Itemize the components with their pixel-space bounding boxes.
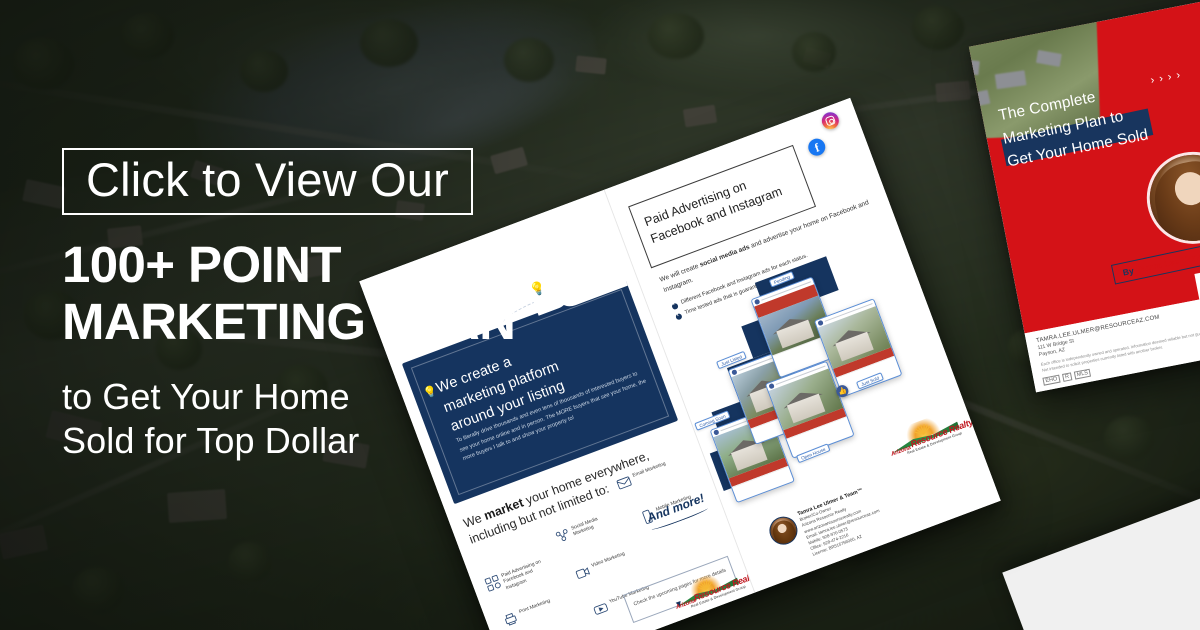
channel-label: Video Marketing: [590, 546, 636, 570]
channel-label: Print Marketing: [518, 592, 564, 616]
promo-banner: The Complete Marketing Plan to Get Your …: [0, 0, 1200, 630]
instagram-icon: [819, 110, 841, 132]
subheadline-line-1: to Get Your Home: [62, 375, 582, 419]
facebook-icon: f: [806, 136, 828, 158]
channel-label: Search Engine Marketing: [535, 627, 583, 630]
cta-label: Click to View Our: [86, 156, 449, 203]
video-icon: [573, 563, 592, 582]
headline-line-2: MARKETING PLAN: [62, 294, 582, 349]
social-media-icon: [553, 526, 572, 545]
youtube-icon: [591, 599, 610, 618]
hero-headline-block: Click to View Our 100+ POINT MARKETING P…: [62, 148, 582, 463]
arizona-resource-realty-logo: Arizona Resource Realty Real Estate & De…: [883, 409, 966, 463]
headline-line-1: 100+ POINT: [62, 237, 582, 292]
realtor-icon: R: [1062, 372, 1072, 382]
print-icon: [501, 610, 520, 629]
channel-print-marketing: Print Marketing: [501, 592, 566, 628]
facebook-bullet-icon: [675, 313, 683, 321]
facebook-bullet-icon: [671, 302, 679, 310]
channel-label: Social Media Marketing: [570, 509, 618, 539]
channel-video-marketing: Video Marketing: [573, 546, 638, 582]
channel-facebook-ads: Paid Advertising on Facebook and Instagr…: [483, 556, 550, 598]
facebook-ads-icon: [483, 574, 502, 593]
equal-housing-icon: EHO: [1042, 375, 1060, 386]
subheadline-line-2: Sold for Top Dollar: [62, 419, 582, 463]
click-to-view-button[interactable]: Click to View Our: [62, 148, 473, 215]
mls-icon: MLS: [1074, 369, 1092, 380]
channel-search-engine: Search Engine Marketing: [518, 627, 583, 630]
agent-avatar: [766, 513, 802, 549]
channel-label: Paid Advertising on Facebook and Instagr…: [500, 556, 550, 592]
